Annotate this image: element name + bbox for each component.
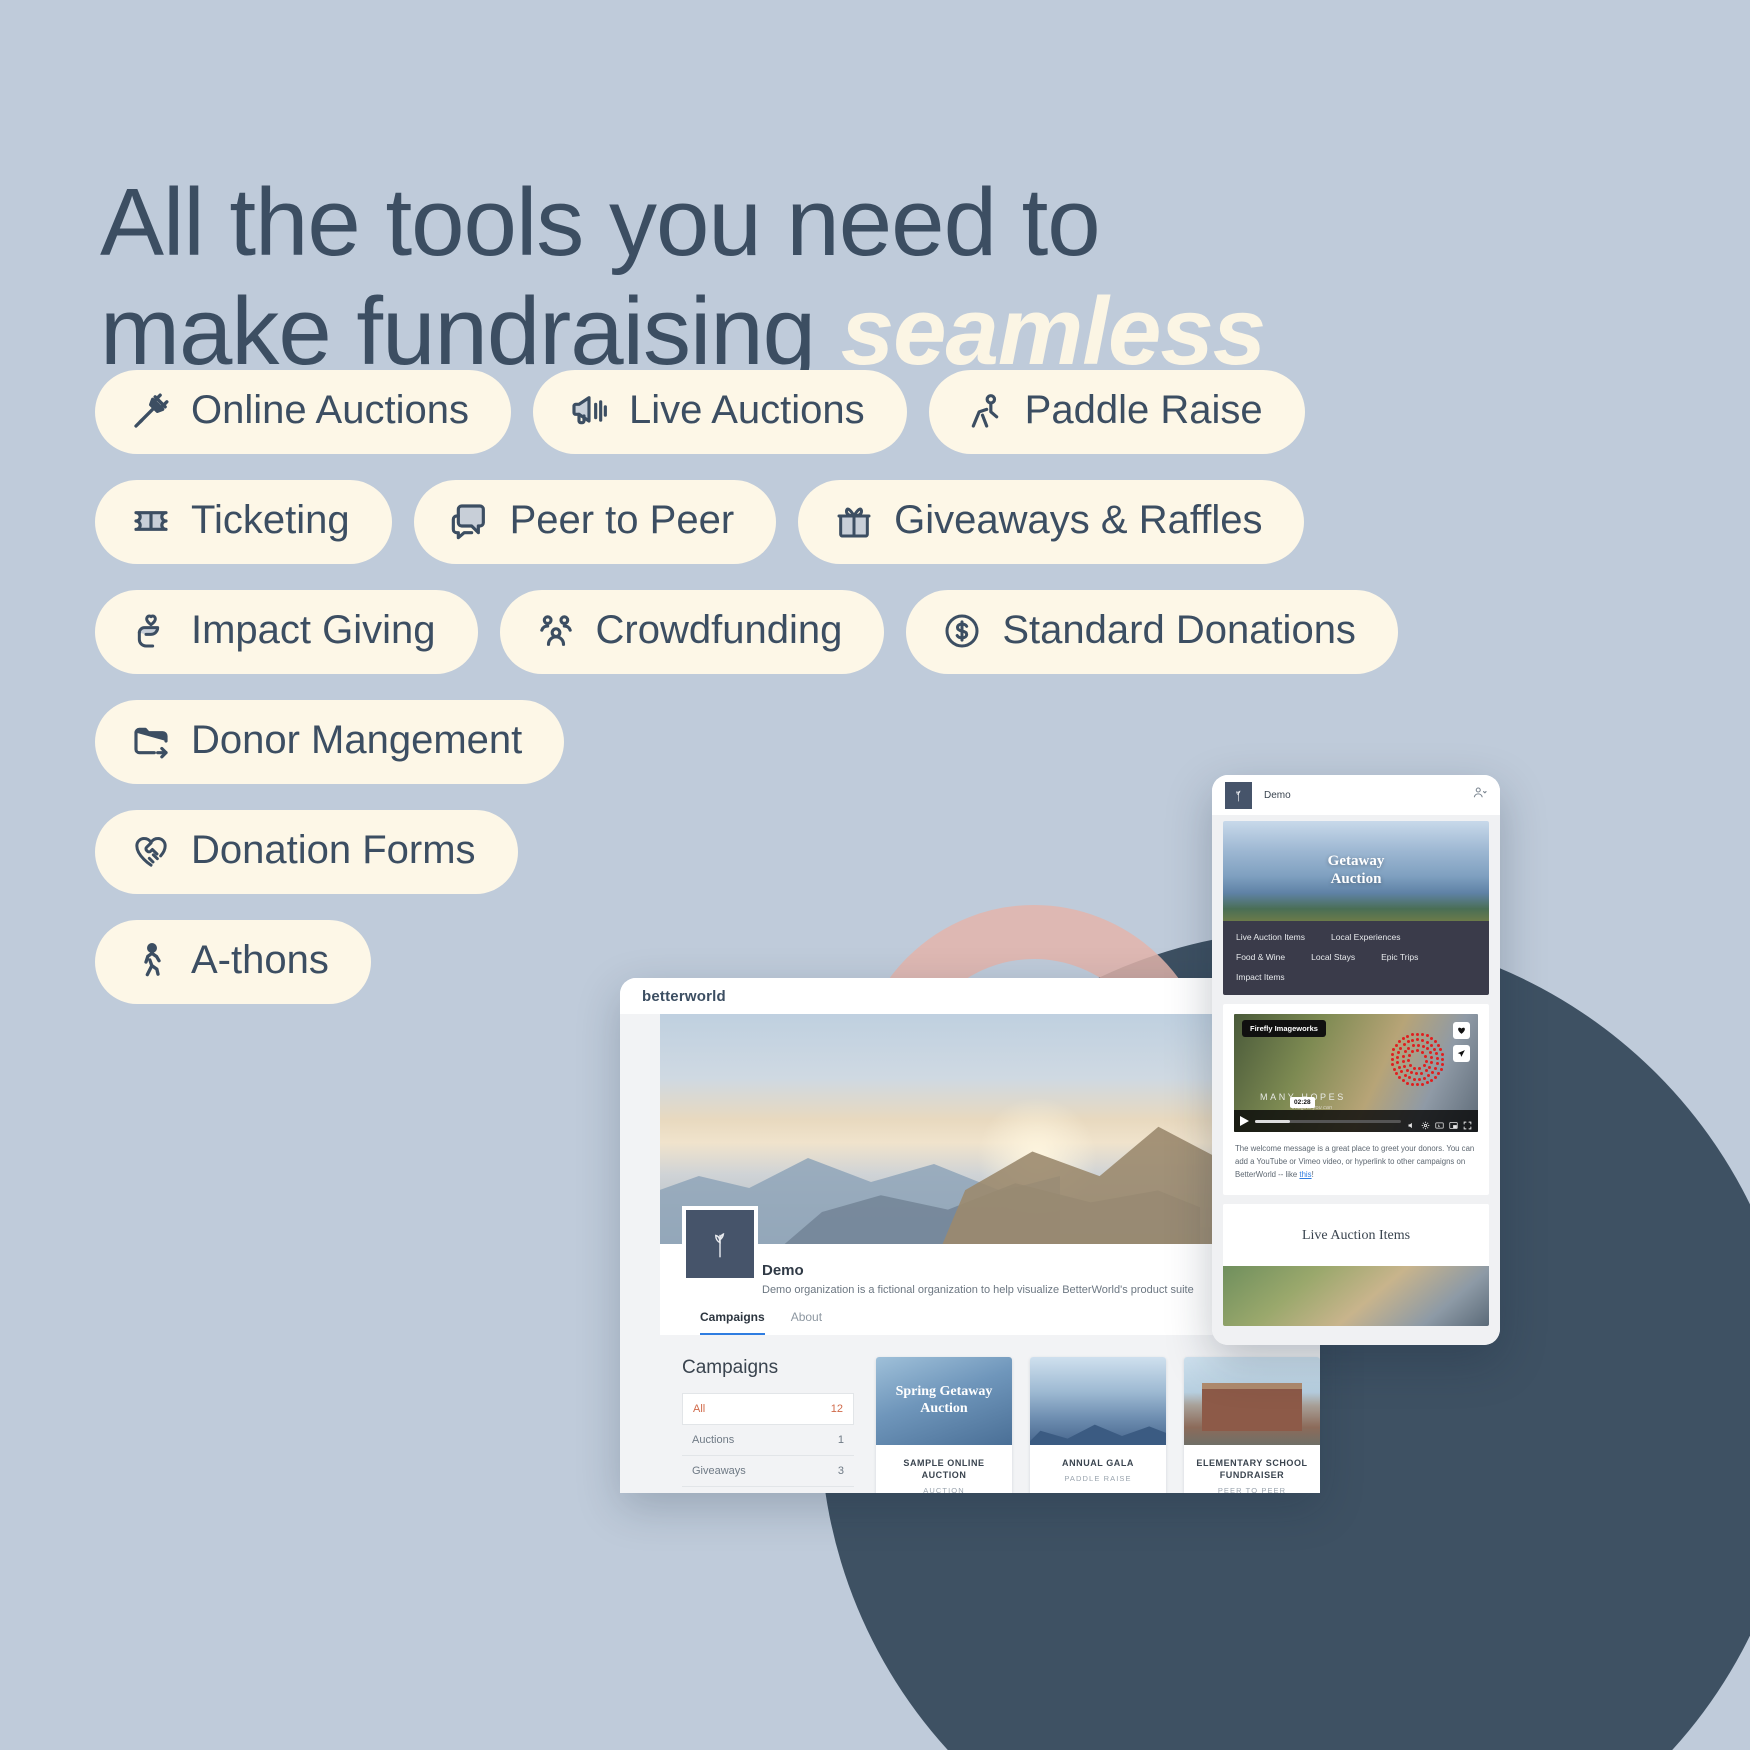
video-control-bar[interactable] <box>1234 1110 1478 1132</box>
nav-link-local-experiences[interactable]: Local Experiences <box>1331 932 1400 942</box>
org-avatar <box>682 1206 758 1282</box>
pill-label: Online Auctions <box>191 390 469 432</box>
pill-a-thons[interactable]: A-thons <box>95 920 371 1004</box>
share-icon[interactable] <box>1453 1045 1470 1062</box>
welcome-inline-link[interactable]: this <box>1299 1170 1311 1179</box>
campaign-card-type: PADDLE RAISE <box>1038 1474 1158 1483</box>
phone-org-logo <box>1225 782 1252 809</box>
pill-label: Giveaways & Raffles <box>894 500 1262 542</box>
video-timestamp: 02:28 <box>1290 1097 1315 1108</box>
campaign-card-image: Spring Getaway Auction <box>876 1357 1012 1445</box>
phone-live-auction-section: Live Auction Items <box>1223 1204 1489 1326</box>
dollar-circle-icon <box>942 611 982 651</box>
pill-label: Live Auctions <box>629 390 865 432</box>
pill-donor-mangement[interactable]: Donor Mangement <box>95 700 564 784</box>
heart-handshake-icon <box>131 831 171 871</box>
walking-person-icon <box>131 941 171 981</box>
filter-donation-campaigns[interactable]: Donation campaigns 5 <box>682 1487 854 1493</box>
folder-arrow-icon <box>131 721 171 761</box>
phone-org-name: Demo <box>1264 790 1291 801</box>
mobile-phone-mockup: Demo Getaway Auction Live Auction Items … <box>1212 775 1500 1345</box>
filter-all[interactable]: All 12 <box>682 1393 854 1425</box>
campaign-card-name: ANNUAL GALA <box>1038 1457 1158 1469</box>
pill-row-2: Ticketing Peer to Peer Giveaways & R <box>95 480 1495 564</box>
campaign-card[interactable]: ELEMENTARY SCHOOL FUNDRAISER PEER TO PEE… <box>1184 1357 1320 1493</box>
campaign-card[interactable]: Spring Getaway Auction SAMPLE ONLINE AUC… <box>876 1357 1012 1493</box>
campaign-card-image <box>1184 1357 1320 1445</box>
campaign-filter-column: Campaigns All 12 Auctions 1 Giveaways 3 … <box>682 1357 854 1493</box>
video-badge: Firefly Imageworks <box>1242 1020 1326 1037</box>
pill-label: Donation Forms <box>191 830 476 872</box>
video-progress-bar[interactable] <box>1255 1120 1401 1123</box>
paddle-raise-icon <box>965 391 1005 431</box>
campaign-card-type: PEER TO PEER <box>1192 1486 1312 1493</box>
nav-link-food-and-wine[interactable]: Food & Wine <box>1236 952 1285 962</box>
pill-impact-giving[interactable]: Impact Giving <box>95 590 478 674</box>
campaign-card-name: ELEMENTARY SCHOOL FUNDRAISER <box>1192 1457 1312 1481</box>
welcome-video-player[interactable]: Firefly Imageworks MANY HOPES imagine yo… <box>1234 1014 1478 1132</box>
gear-icon[interactable] <box>1421 1117 1430 1126</box>
nav-link-impact-items[interactable]: Impact Items <box>1236 972 1285 982</box>
people-group-icon <box>536 611 576 651</box>
page-headline: All the tools you need to make fundraisi… <box>100 169 1400 386</box>
nav-link-live-auction-items[interactable]: Live Auction Items <box>1236 932 1305 942</box>
gift-icon <box>834 501 874 541</box>
captions-icon[interactable] <box>1435 1117 1444 1126</box>
campaign-card-name: SAMPLE ONLINE AUCTION <box>884 1457 1004 1481</box>
account-icon[interactable] <box>1472 785 1487 805</box>
welcome-text-part-2: ! <box>1312 1170 1314 1179</box>
campaign-card-image <box>1030 1357 1166 1445</box>
nav-link-epic-trips[interactable]: Epic Trips <box>1381 952 1418 962</box>
pill-peer-to-peer[interactable]: Peer to Peer <box>414 480 777 564</box>
campaign-card[interactable]: ANNUAL GALA PADDLE RAISE <box>1030 1357 1166 1493</box>
filter-label: Giveaways <box>692 1465 746 1477</box>
gavel-icon <box>131 391 171 431</box>
tab-campaigns[interactable]: Campaigns <box>700 1310 765 1335</box>
pill-label: Impact Giving <box>191 610 436 652</box>
filter-count: 1 <box>838 1434 844 1446</box>
campaign-card-image-title: Spring Getaway Auction <box>876 1384 1012 1417</box>
chat-bubbles-icon <box>450 501 490 541</box>
phone-campaign-card: Getaway Auction Live Auction Items Local… <box>1223 821 1489 995</box>
pill-standard-donations[interactable]: Standard Donations <box>906 590 1398 674</box>
pill-online-auctions[interactable]: Online Auctions <box>95 370 511 454</box>
brand-logo-text: betterworld <box>642 988 726 1005</box>
pill-label: Donor Mangement <box>191 720 522 762</box>
filter-label: All <box>693 1403 705 1415</box>
phone-category-nav: Live Auction Items Local Experiences Foo… <box>1223 921 1489 995</box>
fullscreen-icon[interactable] <box>1463 1117 1472 1126</box>
pill-live-auctions[interactable]: Live Auctions <box>533 370 907 454</box>
phone-hero-title-line1: Getaway <box>1328 853 1385 869</box>
video-logo-dots <box>1388 1030 1444 1086</box>
campaigns-heading: Campaigns <box>682 1357 854 1379</box>
pill-giveaways-raffles[interactable]: Giveaways & Raffles <box>798 480 1304 564</box>
pill-label: Standard Donations <box>1002 610 1356 652</box>
pill-label: Peer to Peer <box>510 500 735 542</box>
headline-line-1: All the tools you need to <box>100 169 1100 276</box>
heart-icon[interactable] <box>1453 1022 1470 1039</box>
headline-accent-word: seamless <box>841 278 1265 385</box>
filter-count: 3 <box>838 1465 844 1477</box>
welcome-message-text: The welcome message is a great place to … <box>1223 1132 1489 1195</box>
filter-count: 12 <box>831 1403 843 1415</box>
campaign-card-grid: Spring Getaway Auction SAMPLE ONLINE AUC… <box>876 1357 1320 1493</box>
campaign-card-type: AUCTION <box>884 1486 1004 1493</box>
nav-link-local-stays[interactable]: Local Stays <box>1311 952 1355 962</box>
campaigns-section: Campaigns All 12 Auctions 1 Giveaways 3 … <box>660 1335 1320 1493</box>
headline-line-2-plain: make fundraising <box>100 278 841 385</box>
pill-row-1: Online Auctions Live Auctions <box>95 370 1495 454</box>
pill-crowdfunding[interactable]: Crowdfunding <box>500 590 885 674</box>
pill-label: Ticketing <box>191 500 350 542</box>
auction-item-image[interactable] <box>1223 1266 1489 1326</box>
picture-in-picture-icon[interactable] <box>1449 1117 1458 1126</box>
tab-about[interactable]: About <box>791 1310 822 1335</box>
volume-icon[interactable] <box>1407 1117 1416 1126</box>
phone-app-header: Demo <box>1212 775 1500 815</box>
ticket-icon <box>131 501 171 541</box>
pill-label: Crowdfunding <box>596 610 843 652</box>
phone-scroll-area[interactable]: Getaway Auction Live Auction Items Local… <box>1212 815 1500 1345</box>
filter-giveaways[interactable]: Giveaways 3 <box>682 1456 854 1487</box>
filter-label: Auctions <box>692 1434 734 1446</box>
pill-row-4: Donor Mangement <box>95 700 1495 784</box>
welcome-text-part-1: The welcome message is a great place to … <box>1235 1144 1474 1179</box>
hand-heart-icon <box>131 611 171 651</box>
phone-hero-image: Getaway Auction <box>1223 821 1489 921</box>
phone-welcome-card: Firefly Imageworks MANY HOPES imagine yo… <box>1223 1004 1489 1195</box>
pill-label: A-thons <box>191 940 329 982</box>
pill-label: Paddle Raise <box>1025 390 1263 432</box>
play-icon[interactable] <box>1240 1116 1249 1126</box>
pill-donation-forms[interactable]: Donation Forms <box>95 810 518 894</box>
filter-auctions[interactable]: Auctions 1 <box>682 1425 854 1456</box>
megaphone-icon <box>569 391 609 431</box>
live-auction-items-heading: Live Auction Items <box>1223 1204 1489 1266</box>
pill-paddle-raise[interactable]: Paddle Raise <box>929 370 1305 454</box>
pill-ticketing[interactable]: Ticketing <box>95 480 392 564</box>
pill-row-3: Impact Giving Crowdfunding <box>95 590 1495 674</box>
phone-hero-title-line2: Auction <box>1331 871 1382 887</box>
